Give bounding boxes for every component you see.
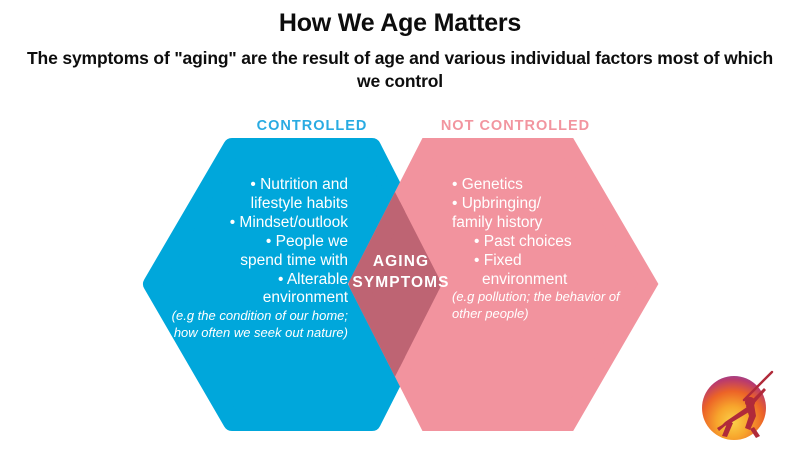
list-item: • Alterable (168, 271, 348, 290)
brand-logo (694, 366, 780, 446)
controlled-items-list: • Nutrition and lifestyle habits • Minds… (168, 176, 348, 341)
list-item: environment (168, 289, 348, 308)
not-controlled-note: (e.g pollution; the behavior of other pe… (452, 289, 632, 322)
list-item: • Nutrition and (168, 176, 348, 195)
aging-symptoms-line-1: AGING (340, 252, 462, 273)
list-item: • Past choices (452, 233, 632, 252)
list-item: • Upbringing/ (452, 195, 632, 214)
yoga-figure-logo-icon (694, 366, 780, 446)
list-item: • People we (168, 233, 348, 252)
not-controlled-items-list: • Genetics • Upbringing/ family history … (452, 176, 632, 322)
list-item: family history (452, 214, 632, 233)
list-item: • Mindset/outlook (168, 214, 348, 233)
list-item: lifestyle habits (168, 195, 348, 214)
aging-symptoms-line-2: SYMPTOMS (340, 273, 462, 294)
controlled-note: (e.g the condition of our home; how ofte… (168, 308, 348, 341)
venn-diagram: • Nutrition and lifestyle habits • Minds… (0, 0, 800, 450)
list-item: • Fixed (452, 252, 632, 271)
list-item: environment (452, 271, 632, 290)
list-item: • Genetics (452, 176, 632, 195)
aging-symptoms-label: AGING SYMPTOMS (340, 252, 462, 294)
list-item: spend time with (168, 252, 348, 271)
logo-disc (702, 376, 766, 440)
venn-shapes (0, 0, 800, 450)
